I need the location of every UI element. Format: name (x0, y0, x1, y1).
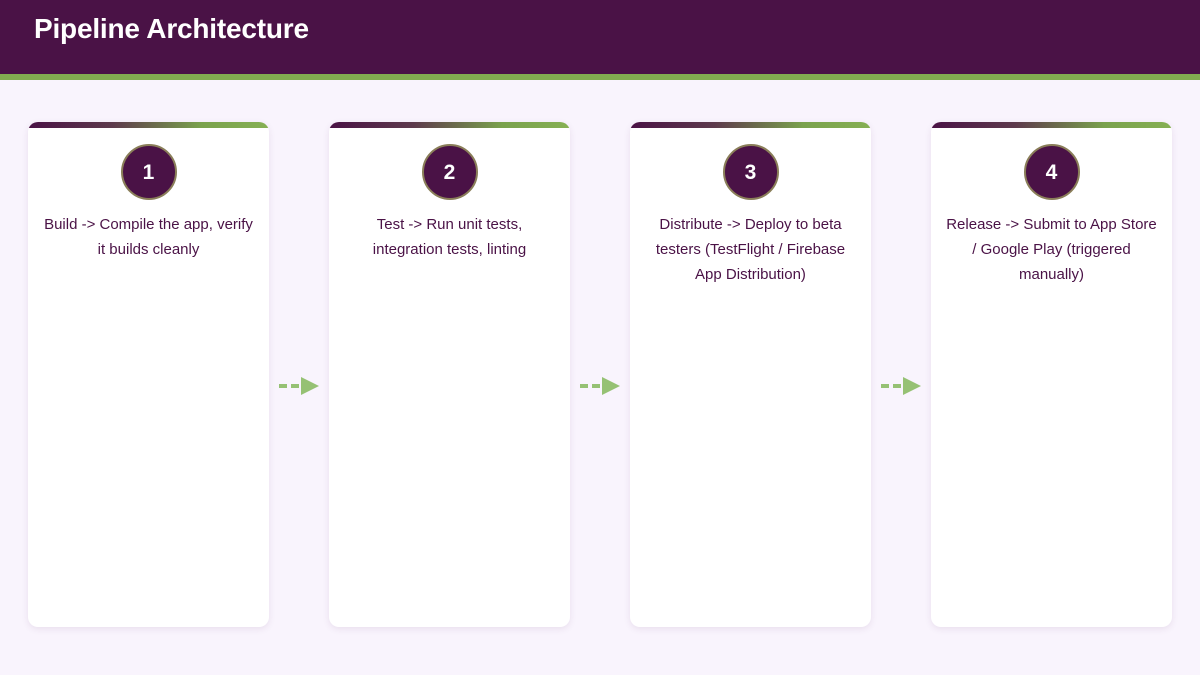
stage-number-label: 1 (143, 162, 155, 183)
stage-card-1[interactable]: 1 Build -> Compile the app, verify it bu… (28, 122, 269, 627)
arrow-dash-segment (279, 384, 287, 388)
stage-card-gradient-bar (329, 122, 570, 128)
arrow-dash-segment (881, 384, 889, 388)
stage-description: Build -> Compile the app, verify it buil… (42, 212, 255, 262)
stage-number-label: 4 (1046, 162, 1058, 183)
stage-description: Distribute -> Deploy to beta testers (Te… (644, 212, 857, 287)
header-accent-stripe (0, 74, 1200, 80)
stage-description: Test -> Run unit tests, integration test… (343, 212, 556, 262)
arrow-dash-segment (580, 384, 588, 388)
stage-card-gradient-bar (28, 122, 269, 128)
arrow-dash-segment (893, 384, 901, 388)
stage-number-badge: 1 (121, 144, 177, 200)
stage-description: Release -> Submit to App Store / Google … (945, 212, 1158, 287)
stage-number-badge: 4 (1024, 144, 1080, 200)
stage-number-badge: 3 (723, 144, 779, 200)
arrow-head (903, 377, 921, 395)
arrow-head (301, 377, 319, 395)
stage-card-gradient-bar (931, 122, 1172, 128)
stage-number-label: 2 (444, 162, 456, 183)
arrow-right-icon (279, 377, 319, 395)
arrow-right-icon (881, 377, 921, 395)
stage-card-4[interactable]: 4 Release -> Submit to App Store / Googl… (931, 122, 1172, 627)
pipeline-architecture-page: Pipeline Architecture 1 Build -> Compile… (0, 0, 1200, 675)
arrow-head (602, 377, 620, 395)
page-title: Pipeline Architecture (34, 13, 309, 45)
page-header: Pipeline Architecture (0, 0, 1200, 74)
stage-card-2[interactable]: 2 Test -> Run unit tests, integration te… (329, 122, 570, 627)
stage-number-label: 3 (745, 162, 757, 183)
arrow-dash-segment (592, 384, 600, 388)
arrow-connector-2 (570, 122, 630, 627)
arrow-dash-segment (291, 384, 299, 388)
stage-number-badge: 2 (422, 144, 478, 200)
arrow-connector-3 (871, 122, 931, 627)
pipeline-stage-row: 1 Build -> Compile the app, verify it bu… (28, 122, 1172, 627)
arrow-right-icon (580, 377, 620, 395)
stage-card-gradient-bar (630, 122, 871, 128)
stage-card-3[interactable]: 3 Distribute -> Deploy to beta testers (… (630, 122, 871, 627)
arrow-connector-1 (269, 122, 329, 627)
